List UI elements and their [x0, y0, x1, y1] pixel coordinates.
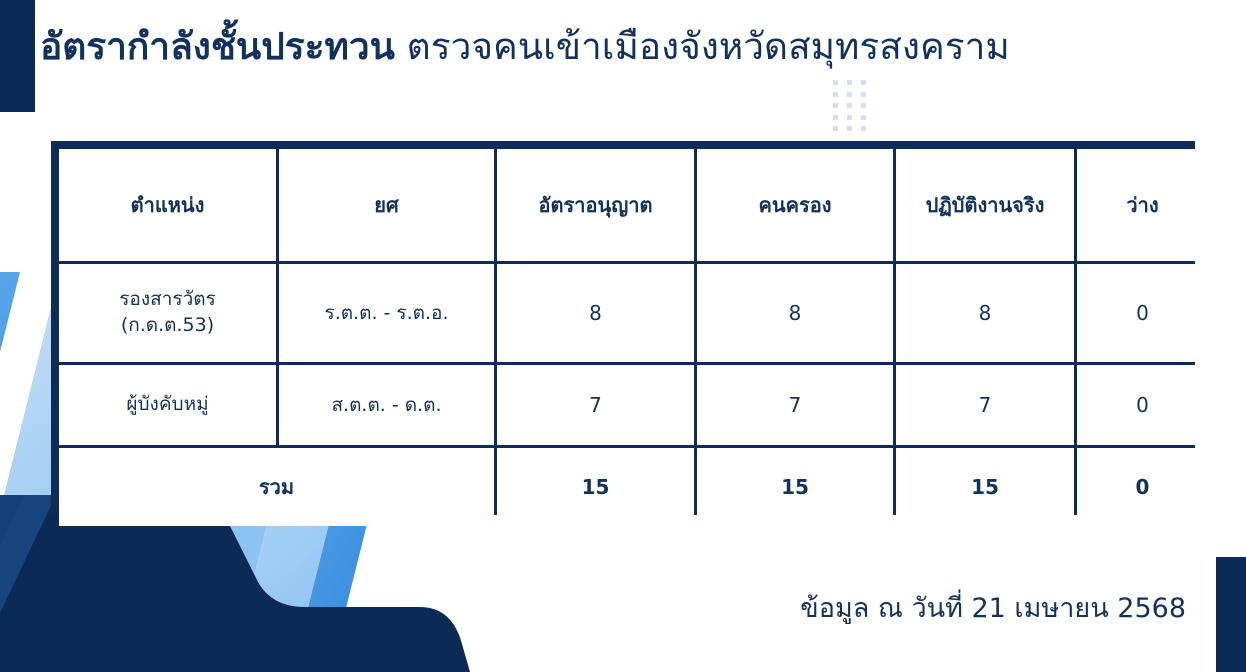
grid-dot	[833, 103, 838, 108]
position-line-2: (ก.ด.ต.53)	[121, 314, 214, 336]
cell-actual: 7	[896, 365, 1074, 445]
column-header-rank: ยศ	[279, 149, 494, 261]
table-row: รองสารวัตร (ก.ด.ต.53) ร.ต.ต. - ร.ต.อ. 8 …	[59, 264, 1208, 362]
grid-dot	[847, 115, 852, 120]
grid-dot	[833, 92, 838, 97]
grid-dot	[847, 126, 852, 131]
total-actual: 15	[896, 448, 1074, 526]
table-row: ผู้บังคับหมู่ ส.ต.ต. - ด.ต. 7 7 7 0	[59, 365, 1208, 445]
total-vacant: 0	[1077, 448, 1208, 526]
slide-root: อัตรากำลังชั้นประทวน ตรวจคนเข้าเมืองจังห…	[0, 0, 1246, 672]
grid-dot	[861, 115, 866, 120]
page-title: อัตรากำลังชั้นประทวน ตรวจคนเข้าเมืองจังห…	[40, 24, 1180, 70]
grid-dot	[861, 103, 866, 108]
table-total-row: รวม 15 15 15 0	[59, 448, 1208, 526]
cell-authorized: 7	[497, 365, 694, 445]
grid-dot	[861, 92, 866, 97]
cell-authorized: 8	[497, 264, 694, 362]
cell-vacant: 0	[1077, 365, 1208, 445]
table-body: รองสารวัตร (ก.ด.ต.53) ร.ต.ต. - ร.ต.อ. 8 …	[59, 264, 1208, 526]
grid-dot	[833, 115, 838, 120]
grid-dot	[833, 126, 838, 131]
cell-rank: ส.ต.ต. - ด.ต.	[279, 365, 494, 445]
grid-dot	[833, 80, 838, 85]
staffing-table: ตำแหน่ง ยศ อัตราอนุญาต คนครอง ปฏิบัติงาน…	[56, 146, 1211, 529]
cell-vacant: 0	[1077, 264, 1208, 362]
cell-position: ผู้บังคับหมู่	[59, 365, 276, 445]
grid-dot	[847, 103, 852, 108]
column-header-authorized: อัตราอนุญาต	[497, 149, 694, 261]
cell-rank: ร.ต.ต. - ร.ต.อ.	[279, 264, 494, 362]
grid-dot	[861, 126, 866, 131]
cell-occupied: 7	[697, 365, 893, 445]
dot-grid-decoration	[833, 80, 875, 138]
page-title-regular: ตรวจคนเข้าเมืองจังหวัดสมุทรสงคราม	[395, 25, 1010, 68]
column-header-position: ตำแหน่ง	[59, 149, 276, 261]
grid-dot	[847, 92, 852, 97]
column-header-occupied: คนครอง	[697, 149, 893, 261]
column-header-vacant: ว่าง	[1077, 149, 1208, 261]
top-left-accent-bar	[0, 0, 35, 112]
table-header: ตำแหน่ง ยศ อัตราอนุญาต คนครอง ปฏิบัติงาน…	[59, 149, 1208, 261]
cell-actual: 8	[896, 264, 1074, 362]
staffing-table-container: ตำแหน่ง ยศ อัตราอนุญาต คนครอง ปฏิบัติงาน…	[51, 141, 1195, 515]
page-title-bold: อัตรากำลังชั้นประทวน	[40, 25, 395, 68]
total-occupied: 15	[697, 448, 893, 526]
position-line-1: รองสารวัตร	[119, 288, 216, 310]
column-header-actual: ปฏิบัติงานจริง	[896, 149, 1074, 261]
grid-dot	[861, 80, 866, 85]
cell-occupied: 8	[697, 264, 893, 362]
table-header-row: ตำแหน่ง ยศ อัตราอนุญาต คนครอง ปฏิบัติงาน…	[59, 149, 1208, 261]
right-edge-accent-bar	[1216, 557, 1246, 672]
total-label: รวม	[59, 448, 494, 526]
data-as-of-note: ข้อมูล ณ วันที่ 21 เมษายน 2568	[800, 586, 1186, 629]
total-authorized: 15	[497, 448, 694, 526]
cell-position: รองสารวัตร (ก.ด.ต.53)	[59, 264, 276, 362]
grid-dot	[847, 80, 852, 85]
